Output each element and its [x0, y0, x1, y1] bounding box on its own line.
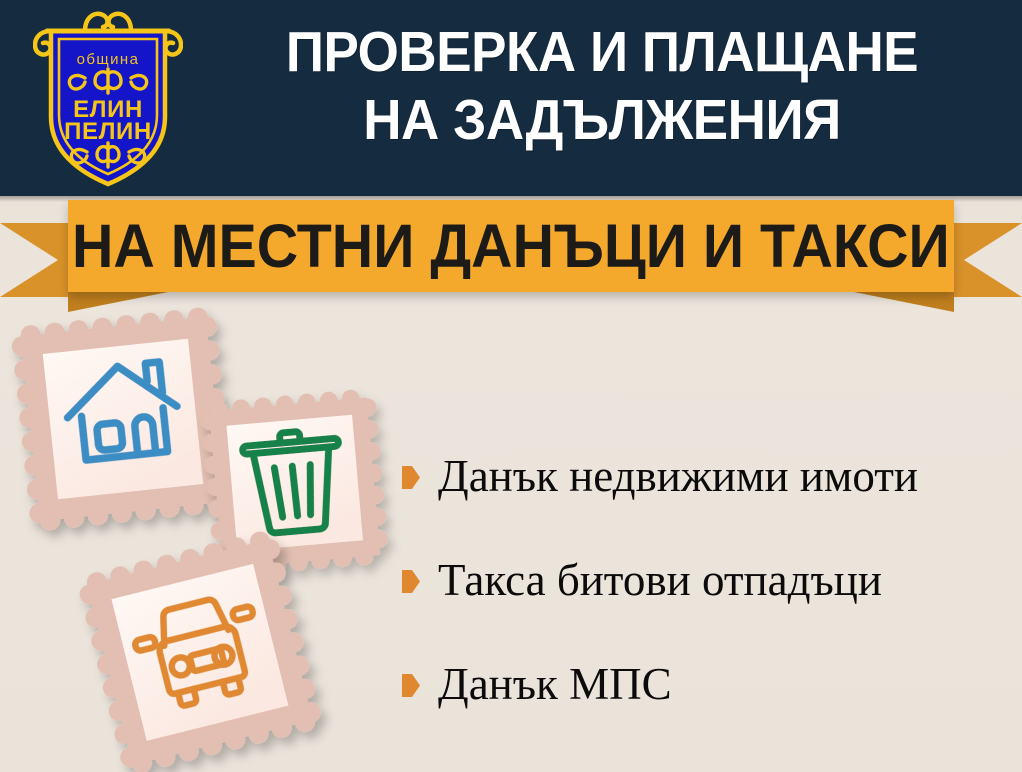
list-item-label: Данък МПС: [438, 659, 672, 709]
page-title: ПРОВЕРКА И ПЛАЩАНЕ НА ЗАДЪЛЖЕНИЯ: [224, 18, 979, 154]
logo-top-label: община: [77, 51, 140, 68]
ribbon-banner: НА МЕСТНИ ДАНЪЦИ И ТАКСИ: [68, 200, 954, 292]
subtitle-ribbon: НА МЕСТНИ ДАНЪЦИ И ТАКСИ: [0, 196, 1022, 316]
header-bar: община ЕЛИН ПЕЛИН ПРОВЕРКА И ПЛАЩАНЕ НА …: [0, 0, 1022, 196]
poster-root: община ЕЛИН ПЕЛИН ПРОВЕРКА И ПЛАЩАНЕ НА …: [0, 0, 1022, 772]
arrow-bullet-icon: [402, 466, 420, 489]
tax-type-list: Данък недвижими имоти Такса битови отпад…: [402, 424, 1012, 736]
logo-name-line2: ПЕЛИН: [64, 118, 152, 145]
stamp-card-vehicle: [86, 536, 326, 772]
page-title-line-2: НА ЗАДЪЛЖЕНИЯ: [224, 86, 979, 154]
arrow-bullet-icon: [402, 674, 420, 697]
ribbon-label: НА МЕСТНИ ДАНЪЦИ И ТАКСИ: [72, 214, 950, 278]
list-item-label: Данък недвижими имоти: [438, 451, 918, 501]
list-item-label: Такса битови отпадъци: [438, 555, 882, 605]
page-title-line-1: ПРОВЕРКА И ПЛАЩАНЕ: [224, 18, 979, 86]
municipality-logo: община ЕЛИН ПЕЛИН: [33, 9, 183, 189]
list-item[interactable]: Данък недвижими имоти: [402, 424, 1012, 528]
list-item[interactable]: Такса битови отпадъци: [402, 528, 1012, 632]
arrow-bullet-icon: [402, 570, 420, 593]
list-item[interactable]: Данък МПС: [402, 632, 1012, 736]
